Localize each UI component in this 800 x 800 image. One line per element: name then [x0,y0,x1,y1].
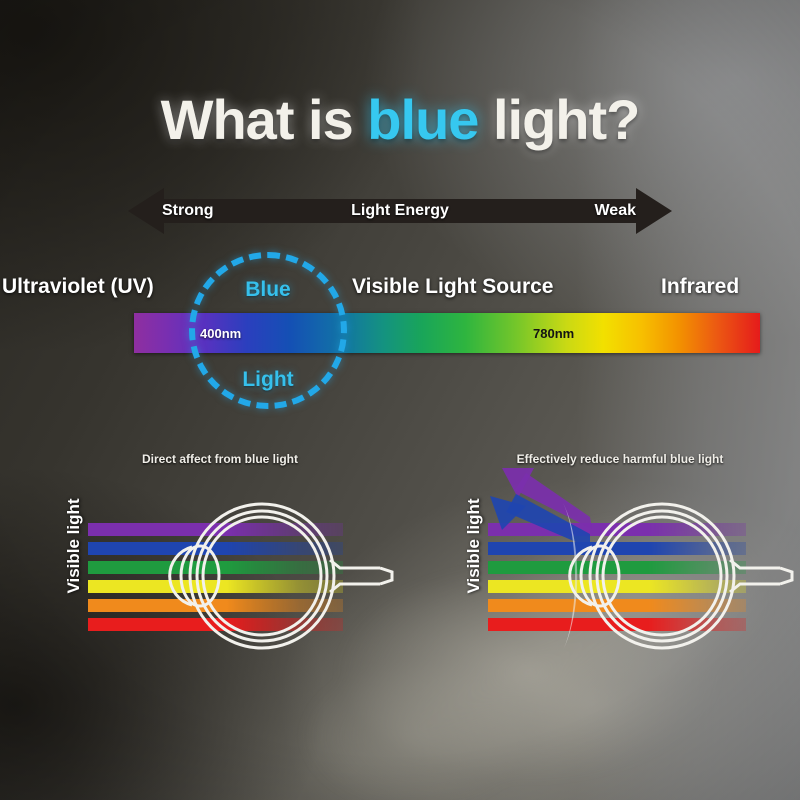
wavelength-marker-780nm: 780nm [533,326,574,341]
title-part-1: What is [161,88,368,151]
panel-right-caption: Effectively reduce harmful blue light [440,452,800,466]
eye-diagram-protected [440,468,800,658]
eye-diagram-unprotected [40,468,400,658]
energy-label-weak: Weak [594,186,636,236]
page-title: What is blue light? [0,92,800,148]
blue-light-word-top: Blue [189,278,347,302]
label-infrared: Infrared [661,275,739,299]
title-highlight: blue [367,88,478,151]
light-energy-arrow: Strong Light Energy Weak [120,186,680,236]
label-ultraviolet: Ultraviolet (UV) [2,275,154,299]
panel-direct-effect: Direct affect from blue light Visible li… [40,440,400,660]
label-visible-light: Visible Light Source [352,275,554,299]
infographic-canvas: What is blue light? Strong Light Energy … [0,0,800,800]
title-part-2: light? [478,88,639,151]
panel-protected: Effectively reduce harmful blue light Vi… [440,440,800,660]
blue-light-word-bottom: Light [189,368,347,392]
panel-left-caption: Direct affect from blue light [40,452,400,466]
